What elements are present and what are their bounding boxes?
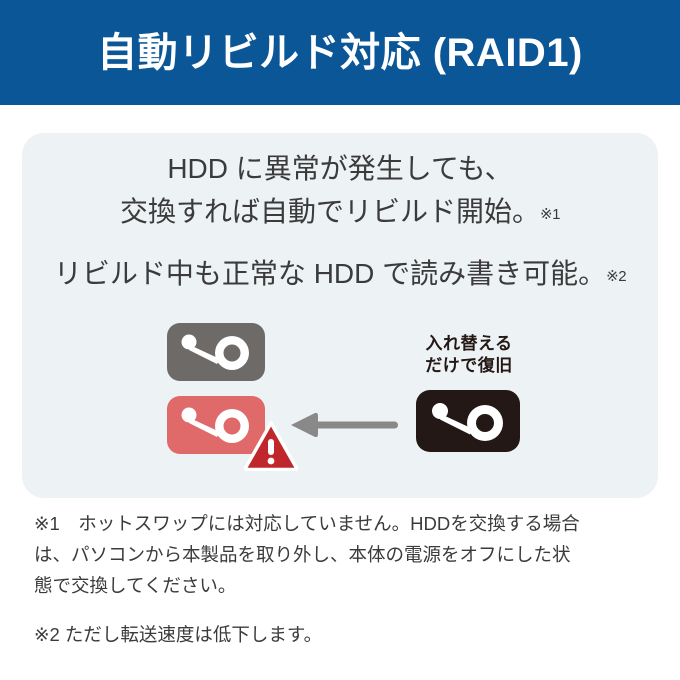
swap-label-line-1: 入れ替える	[407, 333, 531, 355]
swap-label: 入れ替える だけで復旧	[407, 333, 531, 377]
footnote-1-line-1: ※1 ホットスワップには対応していません。HDDを交換する場合	[34, 508, 648, 539]
main-panel: HDD に異常が発生しても、 交換すれば自動でリビルド開始。※1 リビルド中も正…	[22, 133, 658, 498]
replace-arrow-icon	[288, 410, 398, 440]
page-title: 自動リビルド対応 (RAID1)	[97, 33, 583, 73]
footnotes-block: ※1 ホットスワップには対応していません。HDDを交換する場合 は、パソコンから…	[34, 508, 648, 650]
rebuild-diagram: 入れ替える だけで復旧	[22, 133, 658, 498]
footnote-1-line-2: は、パソコンから本製品を取り外し、本体の電源をオフにした状	[34, 539, 648, 570]
footnote-1-line-3: 態で交換してください。	[34, 570, 648, 601]
footnote-2: ※2 ただし転送速度は低下します。	[34, 619, 648, 650]
header-banner: 自動リビルド対応 (RAID1)	[0, 0, 680, 105]
footnote-spacer	[34, 601, 648, 619]
footnote-2-line-1: ※2 ただし転送速度は低下します。	[34, 619, 648, 650]
footnote-1: ※1 ホットスワップには対応していません。HDDを交換する場合 は、パソコンから…	[34, 508, 648, 601]
hdd-normal-icon	[167, 323, 265, 381]
hdd-replacement-icon	[416, 390, 520, 452]
swap-label-line-2: だけで復旧	[407, 355, 531, 377]
